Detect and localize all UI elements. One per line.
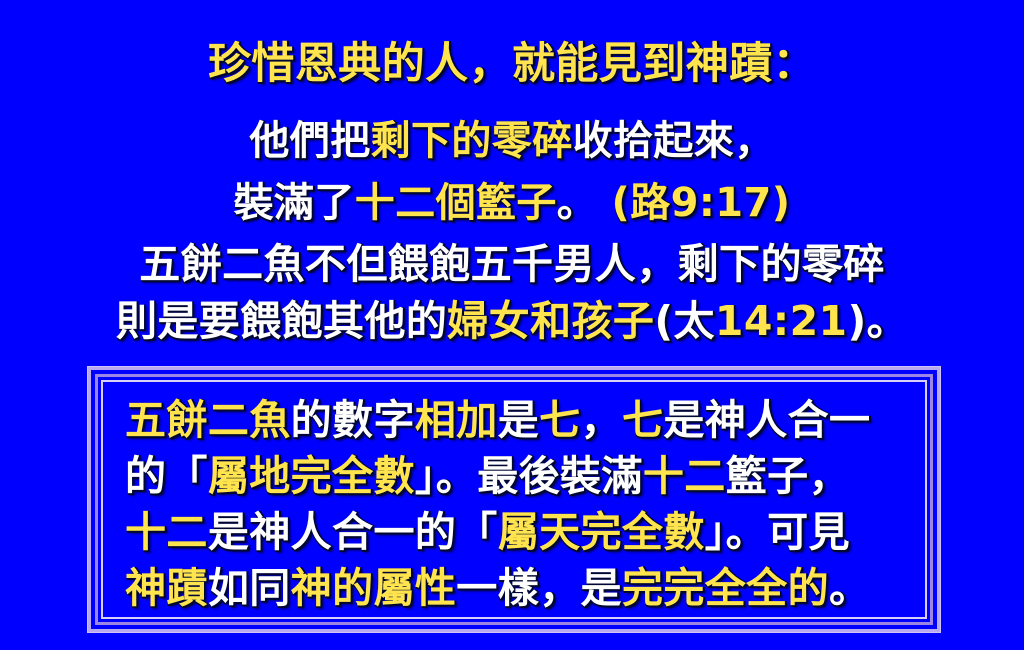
conclusion-line: 神蹟如同神的屬性一樣，是完完全全的。 (125, 560, 925, 616)
text-run: 如同 (208, 564, 291, 612)
text-run: 婦女和孩子 (447, 297, 654, 345)
text-run: 收拾起來， (573, 118, 775, 164)
text-run: (路9:17) (612, 180, 791, 226)
text-run: 屬地完全數 (208, 452, 415, 500)
text-run: 」。最後裝滿 (415, 452, 643, 500)
text-run (597, 180, 611, 226)
text-run: 十二個籃子 (355, 180, 557, 226)
slide-title: 珍惜恩典的人，就能見到神蹟： (0, 38, 1024, 90)
conclusion-box: 五餅二魚的數字相加是七，七是神人合一 的「屬地完全數」。最後裝滿十二籃子， 十二… (88, 367, 940, 632)
text-run: 。 (557, 180, 597, 226)
text-run: 他們把 (249, 118, 370, 164)
text-run: 是 (498, 396, 539, 444)
text-run: 。 (829, 564, 870, 612)
text-run: 的數字 (291, 396, 415, 444)
text-run: 裝滿了 (234, 180, 355, 226)
text-run: 珍惜恩典的人，就能見到神蹟： (208, 39, 816, 89)
text-run: 完完全全的 (622, 564, 829, 612)
slide-canvas: 珍惜恩典的人，就能見到神蹟： 他們把剩下的零碎收拾起來， 裝滿了十二個籃子。 (… (0, 0, 1024, 650)
text-run: 七 (539, 396, 580, 444)
text-run: 神蹟 (125, 564, 208, 612)
quote-line: 他們把剩下的零碎收拾起來， (0, 110, 1024, 172)
explanation-line: 則是要餵飽其他的婦女和孩子(太14:21)。 (0, 293, 1024, 350)
text-run: 相加 (415, 396, 498, 444)
text-run: 籃子， (726, 452, 850, 500)
text-run: 的「 (125, 452, 208, 500)
conclusion-box-inner-border-2: 五餅二魚的數字相加是七，七是神人合一 的「屬地完全數」。最後裝滿十二籃子， 十二… (101, 380, 927, 619)
text-run: 是神人合一 (663, 396, 870, 444)
text-run: 五餅二魚 (125, 396, 291, 444)
text-run: )。 (847, 297, 908, 345)
text-run: 屬天完全數 (498, 508, 705, 556)
text-run: 七 (622, 396, 663, 444)
text-run: 」。可見 (705, 508, 850, 556)
conclusion-text: 五餅二魚的數字相加是七，七是神人合一 的「屬地完全數」。最後裝滿十二籃子， 十二… (103, 382, 925, 616)
conclusion-line: 的「屬地完全數」。最後裝滿十二籃子， (125, 448, 925, 504)
explanation-block: 五餅二魚不但餵飽五千男人，剩下的零碎 則是要餵飽其他的婦女和孩子(太14:21)… (0, 236, 1024, 350)
text-run: 是神人合一的「 (208, 508, 498, 556)
conclusion-box-inner-border: 五餅二魚的數字相加是七，七是神人合一 的「屬地完全數」。最後裝滿十二籃子， 十二… (95, 374, 933, 625)
text-run: 十二 (125, 508, 208, 556)
text-run: 五餅二魚不但餵飽五千男人，剩下的零碎 (139, 240, 884, 288)
text-run: 剩下的零碎 (371, 118, 573, 164)
text-run: (太 (654, 297, 715, 345)
text-run: ， (581, 396, 622, 444)
scripture-quote-block: 他們把剩下的零碎收拾起來， 裝滿了十二個籃子。 (路9:17) (0, 110, 1024, 234)
conclusion-line: 十二是神人合一的「屬天完全數」。可見 (125, 504, 925, 560)
text-run: 一樣，是 (456, 564, 622, 612)
quote-line: 裝滿了十二個籃子。 (路9:17) (0, 172, 1024, 234)
text-run: 神的屬性 (291, 564, 457, 612)
text-run: 14:21 (715, 297, 848, 345)
explanation-line: 五餅二魚不但餵飽五千男人，剩下的零碎 (0, 236, 1024, 293)
text-run: 則是要餵飽其他的 (116, 297, 447, 345)
conclusion-line: 五餅二魚的數字相加是七，七是神人合一 (125, 392, 925, 448)
text-run: 十二 (643, 452, 726, 500)
